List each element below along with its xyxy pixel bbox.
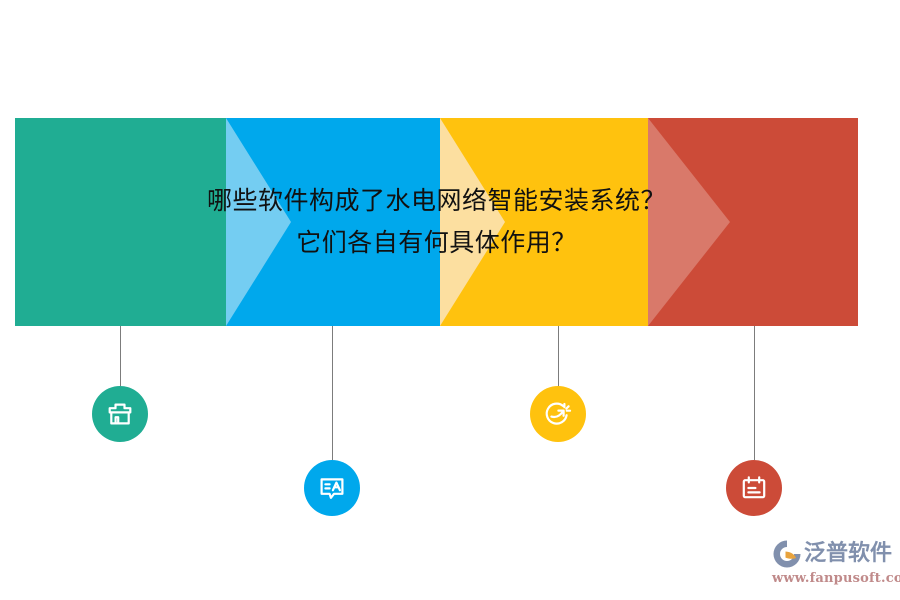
chevron-banner: 哪些软件构成了水电网络智能安装系统？ 它们各自有何具体作用？ (15, 118, 858, 326)
brand-watermark: 泛普软件 www.fanpusoft.com (772, 538, 890, 590)
segment-green (15, 118, 226, 326)
brand-row: 泛普软件 (772, 538, 890, 570)
connector-line-translate (332, 326, 333, 460)
connector-line-schedule (754, 326, 755, 460)
chevron-banner-shapes (15, 118, 858, 326)
fanpu-logo-icon (772, 539, 802, 569)
translate-bubble-icon (316, 472, 348, 504)
store-icon (104, 398, 136, 430)
connector-line-growth (558, 326, 559, 386)
node-schedule[interactable] (726, 460, 782, 516)
segment-yellow (440, 118, 648, 326)
segment-blue (226, 118, 440, 326)
segment-red (648, 118, 858, 326)
brand-url: www.fanpusoft.com (772, 571, 890, 586)
node-growth[interactable] (530, 386, 586, 442)
node-translate[interactable] (304, 460, 360, 516)
node-store[interactable] (92, 386, 148, 442)
growth-arrow-icon (542, 398, 574, 430)
connector-line-store (120, 326, 121, 386)
calendar-note-icon (738, 472, 770, 504)
brand-name: 泛普软件 (804, 539, 892, 569)
poster-canvas: 哪些软件构成了水电网络智能安装系统？ 它们各自有何具体作用？ (0, 0, 900, 600)
